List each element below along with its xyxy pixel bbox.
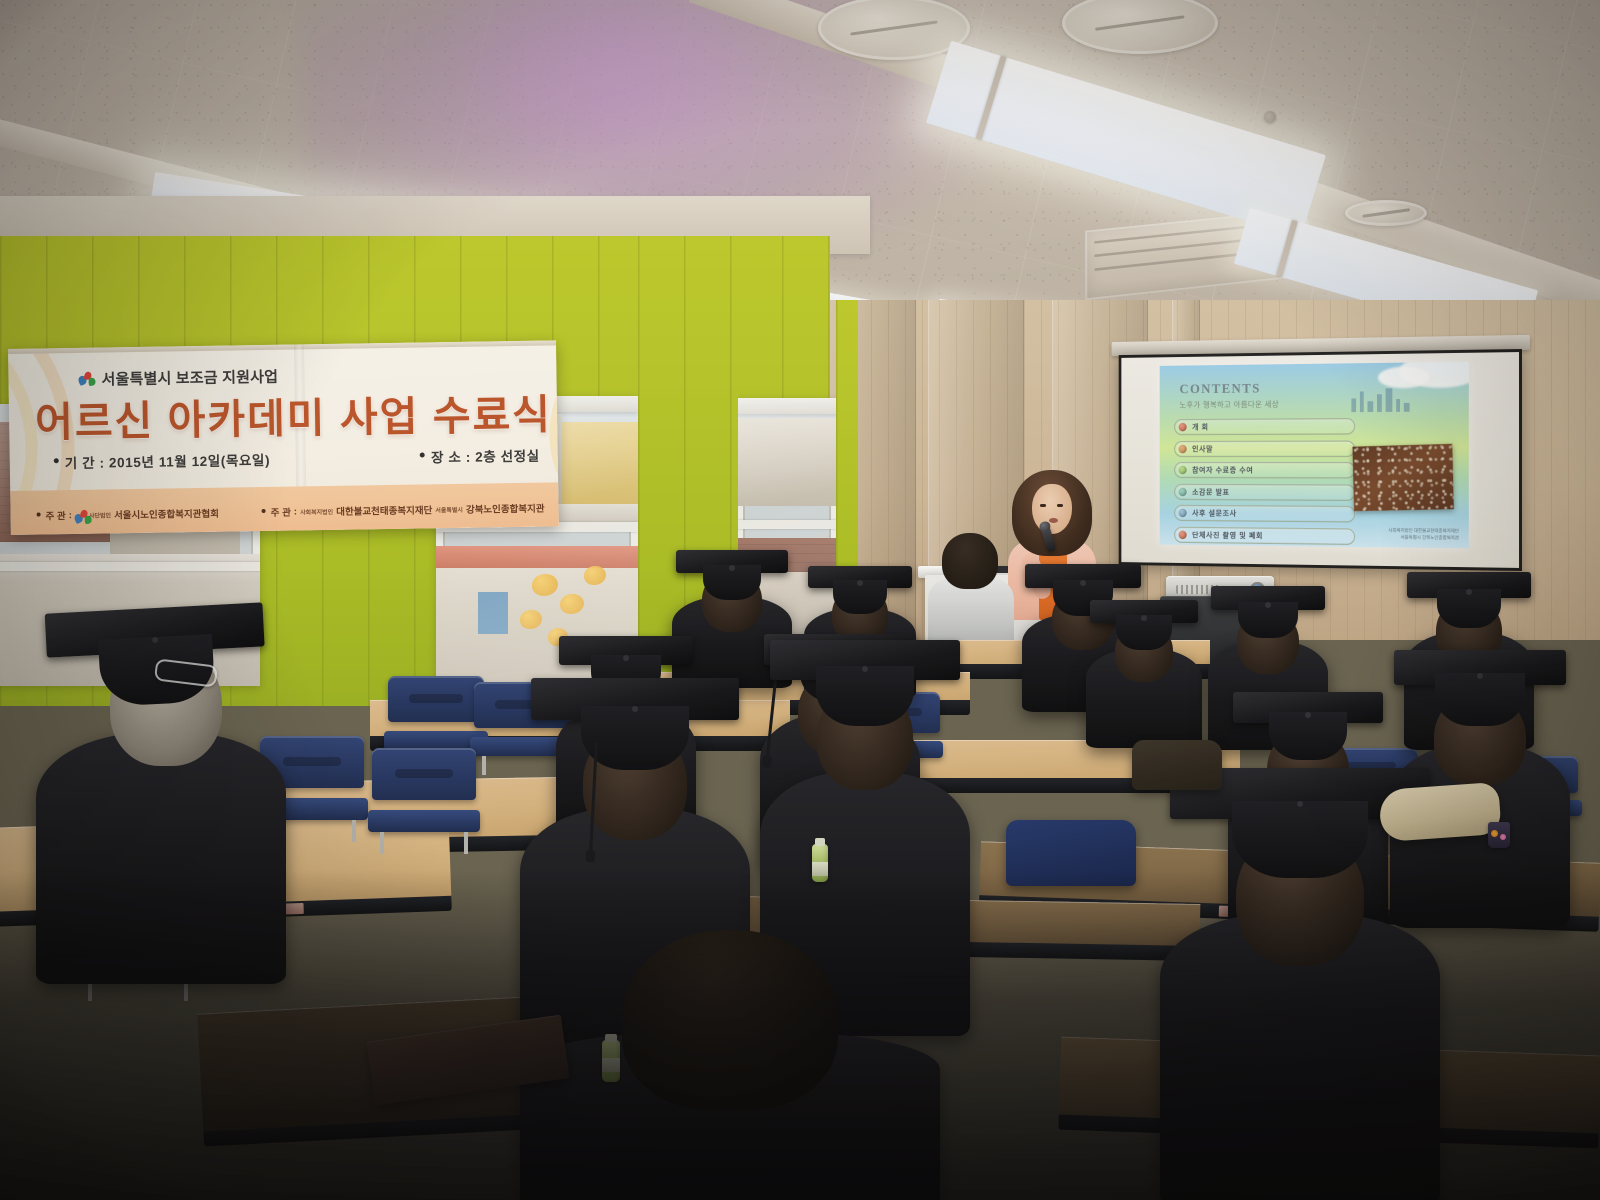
- banner-meta-place: 장 소 : 2층 선정실: [420, 445, 540, 467]
- banner-title: 어르신 아카데미 사업 수료식: [35, 381, 546, 449]
- banner-organizer-1-label: 주 관: [46, 508, 66, 522]
- banner-organizer-2-sub: 사회복지법인: [300, 506, 333, 516]
- projected-slide: CONTENTS 노후가 행복하고 아름다운 세상 개 회 인사말 참여자 수료…: [1160, 362, 1469, 549]
- slide-bullet-icon: [1179, 444, 1187, 453]
- banner-meta-date: 기 간 : 2015년 11월 12일(목요일): [54, 449, 271, 472]
- slide-agenda-list: 개 회 인사말 참여자 수료증 수여 소감문 발표: [1174, 418, 1355, 545]
- slide-agenda-label: 개 회: [1192, 422, 1209, 433]
- attendee-head: [622, 930, 838, 1110]
- slide-agenda-label: 단체사진 촬영 및 폐회: [1192, 529, 1263, 540]
- green-bottle: [812, 844, 828, 882]
- beige-jacket: [1378, 782, 1501, 842]
- slide-agenda-item: 단체사진 촬영 및 폐회: [1174, 526, 1355, 544]
- event-banner: 서울특별시 보조금 지원사업 어르신 아카데미 사업 수료식 기 간 : 201…: [8, 340, 559, 535]
- chair[interactable]: [372, 748, 476, 832]
- group-photo-thumbnail: [1352, 444, 1454, 511]
- graduation-cap: [676, 550, 788, 600]
- seoul-city-logo-icon: [78, 372, 95, 387]
- slide-agenda-label: 인사말: [1192, 443, 1213, 454]
- staff-head: [942, 533, 998, 589]
- lens-flare-core: [430, 0, 790, 140]
- navy-bag: [1006, 820, 1136, 886]
- banner-organizer-1-name: 서울시노인종합복지관협회: [114, 506, 219, 522]
- banner-organizer-3-sub: 서울특별시: [435, 504, 463, 513]
- slide-agenda-item: 개 회: [1174, 418, 1355, 435]
- graduation-cap: [770, 640, 960, 726]
- slide-agenda-label: 소감문 발표: [1192, 486, 1230, 497]
- banner-organizer-1: 주 관 : 사단법인 서울시노인종합복지관협회: [37, 506, 219, 523]
- graduation-cap: [1394, 650, 1566, 726]
- slide-credit: 사회복지법인 대한불교천태종복지재단 서울특별시 강북노인종합복지관: [1388, 528, 1459, 542]
- graduation-cap: [1090, 600, 1198, 650]
- seoul-city-logo-icon-small: [75, 510, 86, 520]
- slide-skyline-icon: [1349, 388, 1416, 412]
- photo-scene: 서울특별시 보조금 지원사업 어르신 아카데미 사업 수료식 기 간 : 201…: [0, 0, 1600, 1200]
- projection-screen-surface: CONTENTS 노후가 행복하고 아름다운 세상 개 회 인사말 참여자 수료…: [1119, 349, 1522, 571]
- graduation-cap: [1211, 586, 1325, 638]
- slide-bullet-icon: [1179, 423, 1187, 432]
- ceiling-speaker-3: [1345, 200, 1427, 226]
- green-bottle: [602, 1040, 620, 1082]
- graduation-cap: [808, 566, 912, 614]
- slide-bullet-icon: [1179, 466, 1187, 475]
- graduate: [1086, 596, 1202, 748]
- staff-member: [928, 533, 1014, 653]
- slide-subheading: 노후가 행복하고 아름다운 세상: [1179, 399, 1278, 410]
- slide-credit-line-2: 서울특별시 강북노인종합복지관: [1388, 535, 1459, 543]
- slide-agenda-item: 참여자 수료증 수여: [1174, 462, 1355, 479]
- slide-agenda-item: 소감문 발표: [1174, 483, 1355, 500]
- slide-agenda-item: 사후 설문조사: [1174, 505, 1355, 523]
- slide-heading: CONTENTS: [1179, 382, 1260, 398]
- presenter-face: [1032, 484, 1072, 534]
- paper-cup: [1488, 822, 1510, 848]
- graduation-cap: [45, 602, 268, 709]
- slide-agenda-label: 사후 설문조사: [1192, 508, 1237, 519]
- graduation-cap: [531, 678, 739, 770]
- banner-organizer-1-sub: 사단법인: [89, 510, 111, 519]
- slide-bullet-icon: [1179, 530, 1187, 539]
- slide-bullet-icon: [1179, 487, 1187, 496]
- navy-bag: [1132, 740, 1222, 790]
- sprinkler-head-1: [1264, 111, 1276, 123]
- banner-organizer-2-name: 대한불교천태종복지재단: [336, 502, 432, 518]
- slide-bullet-icon: [1179, 509, 1187, 518]
- projection-screen: CONTENTS 노후가 행복하고 아름다운 세상 개 회 인사말 참여자 수료…: [1119, 349, 1522, 571]
- graduation-cap: [1407, 572, 1531, 628]
- banner-organizer-3-name: 강북노인종합복지관: [466, 501, 545, 516]
- slide-agenda-label: 참여자 수료증 수여: [1192, 465, 1253, 476]
- slide-agenda-item: 인사말: [1174, 440, 1355, 457]
- graduation-cap: [1233, 692, 1383, 760]
- banner-organizer-2-label: 주 관: [271, 505, 291, 519]
- attendee-foreground: [520, 930, 940, 1200]
